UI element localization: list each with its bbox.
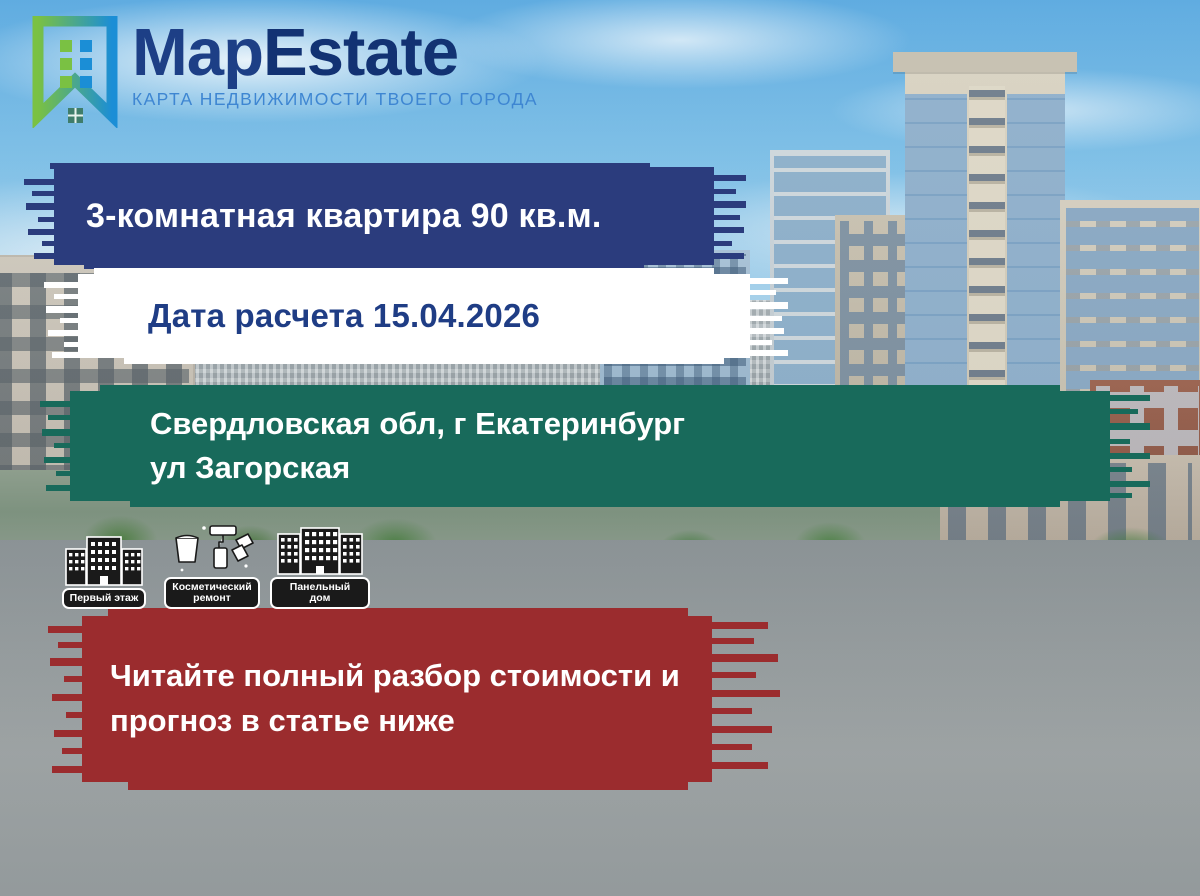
cta-banner[interactable]: Читайте полный разбор стоимости и прогно… [48, 608, 784, 790]
brand-name: MapEstate [132, 18, 538, 88]
bookmark-building-icon [32, 16, 118, 128]
address-banner-text: Свердловская обл, г Екатеринбург ул Заго… [150, 402, 685, 490]
feature-badges: Первый этаж Косметический ремонт [54, 522, 370, 609]
brand-name-part2: Estate [263, 15, 458, 90]
badge-first-floor[interactable]: Первый этаж [54, 533, 154, 609]
brand-logo[interactable]: MapEstate КАРТА НЕДВИЖИМОСТИ ТВОЕГО ГОРО… [32, 16, 538, 128]
brand-tagline: КАРТА НЕДВИЖИМОСТИ ТВОЕГО ГОРОДА [132, 89, 538, 110]
badge-icon-wrap [277, 522, 363, 576]
title-banner: 3-комнатная квартира 90 кв.м. [24, 163, 746, 269]
badge-icon-wrap [65, 533, 143, 587]
badge-label: Первый этаж [62, 588, 147, 609]
panel-apartment-blocks-icon [277, 524, 363, 576]
cta-banner-text: Читайте полный разбор стоимости и прогно… [110, 654, 730, 744]
tower-roof [893, 52, 1077, 72]
date-banner: Дата расчета 15.04.2026 [44, 268, 788, 364]
address-banner: Свердловская обл, г Екатеринбург ул Заго… [40, 385, 1150, 507]
badge-icon-wrap [170, 522, 254, 576]
brand-name-part1: Map [132, 15, 263, 90]
badge-panel-house[interactable]: Панельный дом [270, 522, 370, 609]
brand-logo-text: MapEstate КАРТА НЕДВИЖИМОСТИ ТВОЕГО ГОРО… [132, 18, 538, 110]
badge-cosmetic-renovation[interactable]: Косметический ремонт [162, 522, 262, 609]
address-line-1: Свердловская обл, г Екатеринбург [150, 402, 685, 446]
badge-label: Косметический ремонт [164, 577, 259, 609]
date-banner-text: Дата расчета 15.04.2026 [148, 297, 540, 335]
badge-label: Панельный дом [270, 577, 370, 609]
paint-roller-brush-bucket-icon [170, 522, 254, 576]
address-line-2: ул Загорская [150, 446, 685, 490]
title-banner-text: 3-комнатная квартира 90 кв.м. [86, 197, 602, 236]
building-facade-icon [65, 535, 143, 587]
